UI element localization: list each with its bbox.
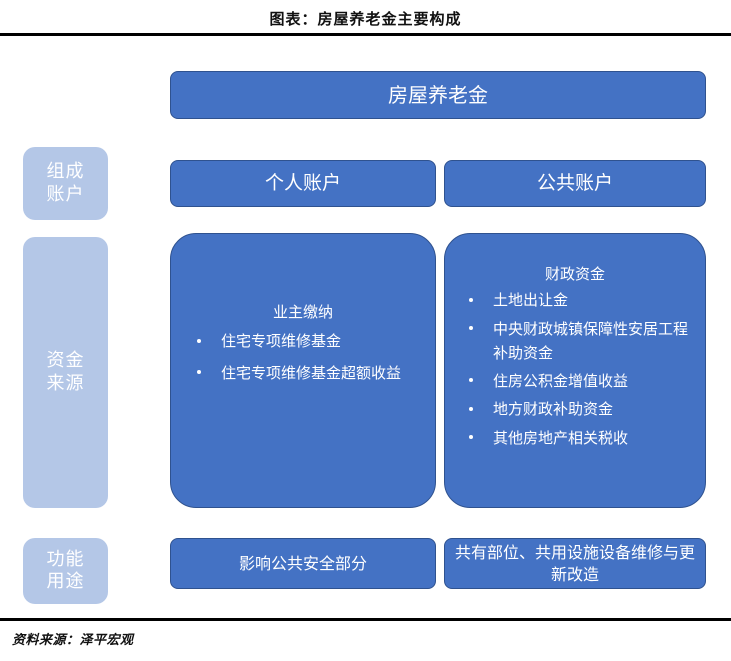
node-shared-facilities-label: 共有部位、共用设施设备维修与更新改造 (451, 542, 699, 585)
row-label-purpose-line1: 功能 (47, 549, 85, 570)
bullet-dot-icon (469, 326, 473, 330)
node-personal-account-label: 个人账户 (265, 171, 341, 197)
node-public-account: 公共账户 (444, 160, 706, 207)
row-label-purpose-line2: 用途 (47, 571, 85, 592)
panel-owner-heading: 业主缴纳 (171, 302, 435, 322)
bullet-dot-icon (469, 298, 473, 302)
list-item-label: 住房公积金增值收益 (493, 372, 628, 390)
node-public-safety-label: 影响公共安全部分 (239, 553, 367, 575)
row-label-compose: 组成 账户 (23, 147, 108, 220)
bullet-dot-icon (197, 370, 201, 374)
panel-fiscal-bullet-list: 土地出让金 中央财政城镇保障性安居工程补助资金 住房公积金增值收益 地方财政补助… (445, 288, 705, 450)
footer-divider (0, 618, 731, 621)
list-item-label: 土地出让金 (493, 291, 568, 309)
list-item: 中央财政城镇保障性安居工程补助资金 (445, 317, 705, 366)
bullet-dot-icon (469, 407, 473, 411)
node-shared-facilities-maintenance: 共有部位、共用设施设备维修与更新改造 (444, 538, 706, 589)
node-root-housing-pension: 房屋养老金 (170, 71, 706, 119)
list-item: 住房公积金增值收益 (445, 369, 705, 393)
node-public-account-label: 公共账户 (537, 171, 613, 197)
list-item-label: 中央财政城镇保障性安居工程补助资金 (493, 320, 688, 362)
node-public-safety-portion: 影响公共安全部分 (170, 538, 436, 589)
list-item-label: 住宅专项维修基金 (221, 332, 341, 350)
list-item: 住宅专项维修基金超额收益 (171, 361, 435, 385)
panel-fiscal-funds: 财政资金 土地出让金 中央财政城镇保障性安居工程补助资金 住房公积金增值收益 地… (444, 233, 706, 508)
list-item-label: 地方财政补助资金 (493, 400, 613, 418)
row-label-purpose: 功能 用途 (23, 538, 108, 604)
bullet-dot-icon (197, 339, 201, 343)
list-item-label: 其他房地产相关税收 (493, 429, 628, 447)
list-item: 住宅专项维修基金 (171, 329, 435, 353)
panel-fiscal-heading: 财政资金 (445, 264, 705, 284)
source-note: 资料来源：泽平宏观 (12, 629, 134, 648)
list-item: 其他房地产相关税收 (445, 426, 705, 450)
row-label-compose-line2: 账户 (47, 184, 85, 205)
panel-owner-bullet-list: 住宅专项维修基金 住宅专项维修基金超额收益 (171, 329, 435, 385)
row-label-funding: 资金 来源 (23, 237, 108, 508)
page-title: 图表：房屋养老金主要构成 (0, 8, 731, 29)
panel-owner-contribution: 业主缴纳 住宅专项维修基金 住宅专项维修基金超额收益 (170, 233, 436, 508)
header-divider (0, 33, 731, 36)
bullet-dot-icon (469, 435, 473, 439)
row-label-funding-line1: 资金 (47, 350, 85, 371)
bullet-dot-icon (469, 378, 473, 382)
list-item: 地方财政补助资金 (445, 397, 705, 421)
node-root-label: 房屋养老金 (388, 82, 488, 109)
row-label-compose-line1: 组成 (47, 161, 85, 182)
row-label-funding-line2: 来源 (47, 373, 85, 394)
node-personal-account: 个人账户 (170, 160, 436, 207)
list-item: 土地出让金 (445, 288, 705, 312)
list-item-label: 住宅专项维修基金超额收益 (221, 364, 401, 382)
